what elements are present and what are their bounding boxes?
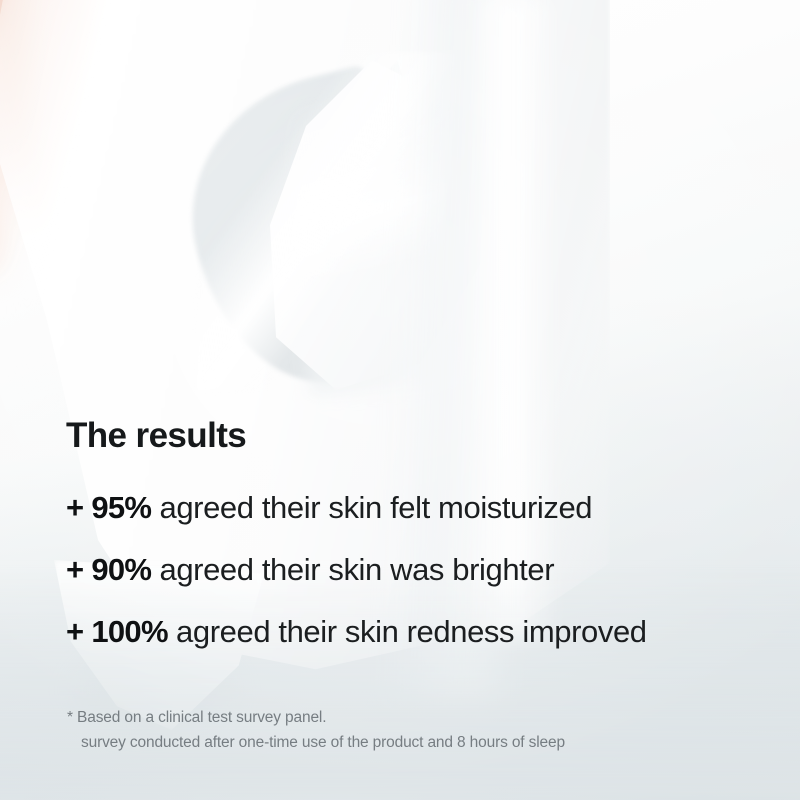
stat-value: + 100%	[66, 614, 168, 649]
product-results-image: The results + 95% agreed their skin felt…	[0, 0, 800, 800]
results-stats-list: + 95% agreed their skin felt moisturized…	[66, 492, 766, 678]
stat-value: + 90%	[66, 552, 151, 587]
stat-label: agreed their skin was brighter	[159, 552, 554, 587]
stat-value: + 95%	[66, 490, 151, 525]
page-title: The results	[66, 418, 246, 453]
stat-label: agreed their skin felt moisturized	[159, 490, 592, 525]
stat-row-moisturized: + 95% agreed their skin felt moisturized	[66, 492, 766, 523]
footnote-line-1: * Based on a clinical test survey panel.	[67, 709, 326, 726]
stat-row-brighter: + 90% agreed their skin was brighter	[66, 554, 766, 585]
stat-label: agreed their skin redness improved	[176, 614, 647, 649]
footnote-line-2: survey conducted after one-time use of t…	[67, 730, 565, 755]
text-content: The results + 95% agreed their skin felt…	[0, 0, 800, 800]
footnote: * Based on a clinical test survey panel.…	[67, 705, 565, 755]
stat-row-redness: + 100% agreed their skin redness improve…	[66, 616, 766, 647]
